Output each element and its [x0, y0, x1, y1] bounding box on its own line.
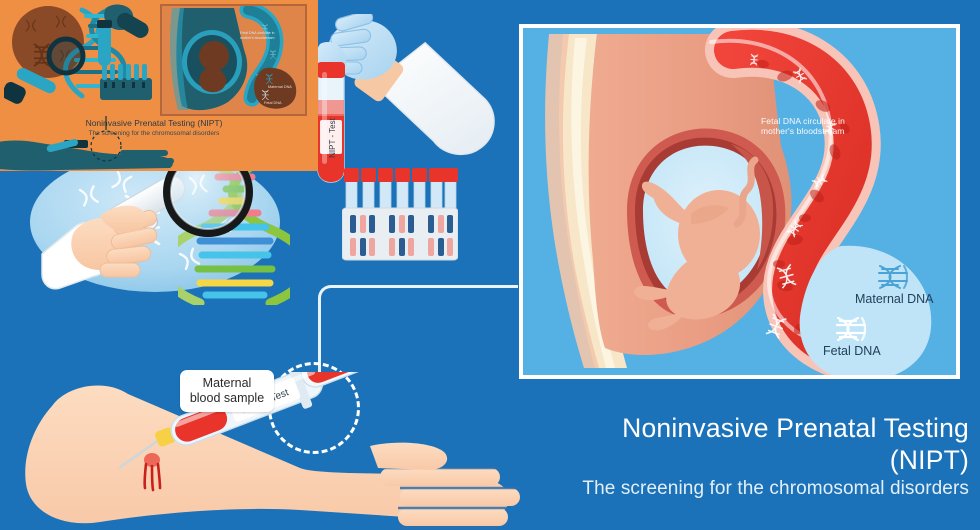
- hand-fingers: [380, 468, 520, 526]
- thumb-fetus-illustration: Fetal DNA circulate in mother's bloodstr…: [162, 6, 305, 114]
- title-block: Noninvasive Prenatal Testing (NIPT) The …: [569, 412, 969, 502]
- fetus-bloodstream-panel: Fetal DNA circulate in mother's bloodstr…: [519, 24, 960, 379]
- gloved-hand-with-tube: NIPT - Test: [310, 14, 510, 194]
- blood-test-tube: NIPT - Test: [317, 62, 345, 182]
- thumb-page-title: Noninvasive Prenatal Testing (NIPT): [0, 118, 308, 129]
- thumb-title-block: Noninvasive Prenatal Testing (NIPT) The …: [0, 118, 318, 139]
- thumb-legend-maternal: Maternal DNA: [268, 85, 292, 89]
- dna-helix-icon: [874, 264, 914, 290]
- thumb-left-illustration: [4, 4, 162, 119]
- tube-cap: [317, 62, 345, 78]
- panel-illustration: [523, 28, 956, 375]
- page-subtitle: The screening for the chromosomal disord…: [569, 476, 969, 502]
- thumb-page-subtitle: The screening for the chromosomal disord…: [0, 129, 308, 139]
- thumb-vessel-label: Fetal DNA circulate in: [240, 31, 275, 35]
- infographic-canvas: Fetal DNA circulate in mother's bloodstr…: [0, 0, 980, 530]
- legend-maternal-dna-label: Maternal DNA: [855, 292, 934, 306]
- dna-helix-icon: [832, 316, 872, 342]
- test-tube-rack: [342, 168, 458, 262]
- legend-fetal-dna: Fetal DNA: [823, 316, 881, 358]
- connector-line: [318, 285, 518, 380]
- thumb-legend-fetal: Fetal DNA: [264, 101, 282, 105]
- vessel-label: Fetal DNA circulate in mother's bloodstr…: [761, 116, 871, 136]
- page-title: Noninvasive Prenatal Testing (NIPT): [569, 412, 969, 476]
- legend-fetal-dna-label: Fetal DNA: [823, 344, 881, 358]
- thumb-vessel-label-2: mother's bloodstream: [240, 36, 274, 40]
- hand-holding-magnifier: [40, 170, 260, 300]
- thumb-inner-panel: Fetal DNA circulate in mother's bloodstr…: [160, 4, 307, 116]
- maternal-blood-sample-callout: Maternal blood sample: [180, 370, 274, 412]
- legend-maternal-dna: Maternal DNA: [855, 264, 934, 306]
- orange-duotone-preview: Fetal DNA circulate in mother's bloodstr…: [0, 0, 318, 171]
- arm-blood-draw: NIPT - Test: [0, 372, 560, 530]
- tube-label-text: NIPT - Test: [328, 117, 337, 157]
